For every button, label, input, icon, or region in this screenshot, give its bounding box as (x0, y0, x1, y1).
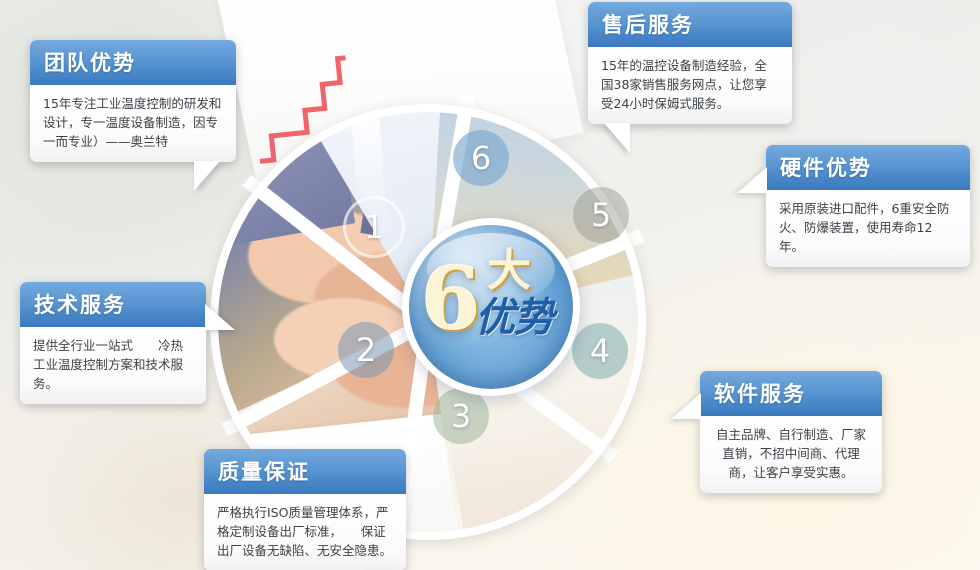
callout-hardware-body: 采用原装进口配件，6重安全防火、防爆装置，使用寿命12年。 (766, 190, 970, 267)
callout-after-sales[interactable]: 售后服务 15年的温控设备制造经验，全国38家销售服务网点，让您享受24小时保姆… (588, 2, 792, 124)
segment-number-4[interactable]: 4 (572, 323, 628, 379)
callout-team-body: 15年专注工业温度控制的研发和设计，专一温度设备制造，因专一而专业）——奥兰特 (30, 85, 236, 162)
callout-after-sales-title: 售后服务 (588, 2, 792, 47)
segment-number-2[interactable]: 2 (338, 322, 394, 378)
callout-team-tail (194, 161, 220, 191)
callout-after-sales-body: 15年的温控设备制造经验，全国38家销售服务网点，让您享受24小时保姆式服务。 (588, 47, 792, 124)
center-label: 优势 (475, 297, 553, 339)
segment-number-3[interactable]: 3 (433, 388, 489, 444)
callout-quality-assurance[interactable]: 质量保证 严格执行ISO质量管理体系，严格定制设备出厂标准， 保证出厂设备无缺陷… (204, 449, 406, 570)
callout-hardware-advantage[interactable]: 硬件优势 采用原装进口配件，6重安全防火、防爆装置，使用寿命12年。 (766, 145, 970, 267)
callout-quality-title: 质量保证 (204, 449, 406, 494)
callout-team-advantage[interactable]: 团队优势 15年专注工业温度控制的研发和设计，专一温度设备制造，因专一而专业）—… (30, 40, 236, 162)
callout-tech-tail (205, 304, 235, 330)
callout-hardware-title: 硬件优势 (766, 145, 970, 190)
segment-number-5[interactable]: 5 (573, 187, 629, 243)
callout-software-tail (671, 393, 701, 419)
callout-technical-service[interactable]: 技术服务 提供全行业一站式 冷热工业温度控制方案和技术服务。 (20, 282, 206, 404)
callout-tech-title: 技术服务 (20, 282, 206, 327)
segment-number-1[interactable]: 1 (343, 196, 405, 258)
callout-after-sales-tail (604, 123, 630, 153)
callout-software-service[interactable]: 软件服务 自主品牌、自行制造、厂家直销，不招中间商、代理商，让客户享受实惠。 (700, 371, 882, 493)
center-unit: 大 (487, 249, 531, 293)
callout-team-title: 团队优势 (30, 40, 236, 85)
callout-software-title: 软件服务 (700, 371, 882, 416)
callout-software-body: 自主品牌、自行制造、厂家直销，不招中间商、代理商，让客户享受实惠。 (700, 416, 882, 493)
callout-tech-body: 提供全行业一站式 冷热工业温度控制方案和技术服务。 (20, 327, 206, 404)
center-badge: 6 大 优势 (402, 218, 580, 396)
infographic-canvas: STOCK MARKET DATA INTC 440.86 (0, 0, 980, 570)
callout-hardware-tail (737, 167, 767, 193)
segment-number-6[interactable]: 6 (453, 130, 509, 186)
center-number: 6 (421, 257, 481, 343)
callout-quality-body: 严格执行ISO质量管理体系，严格定制设备出厂标准， 保证出厂设备无缺陷、无安全隐… (204, 494, 406, 570)
